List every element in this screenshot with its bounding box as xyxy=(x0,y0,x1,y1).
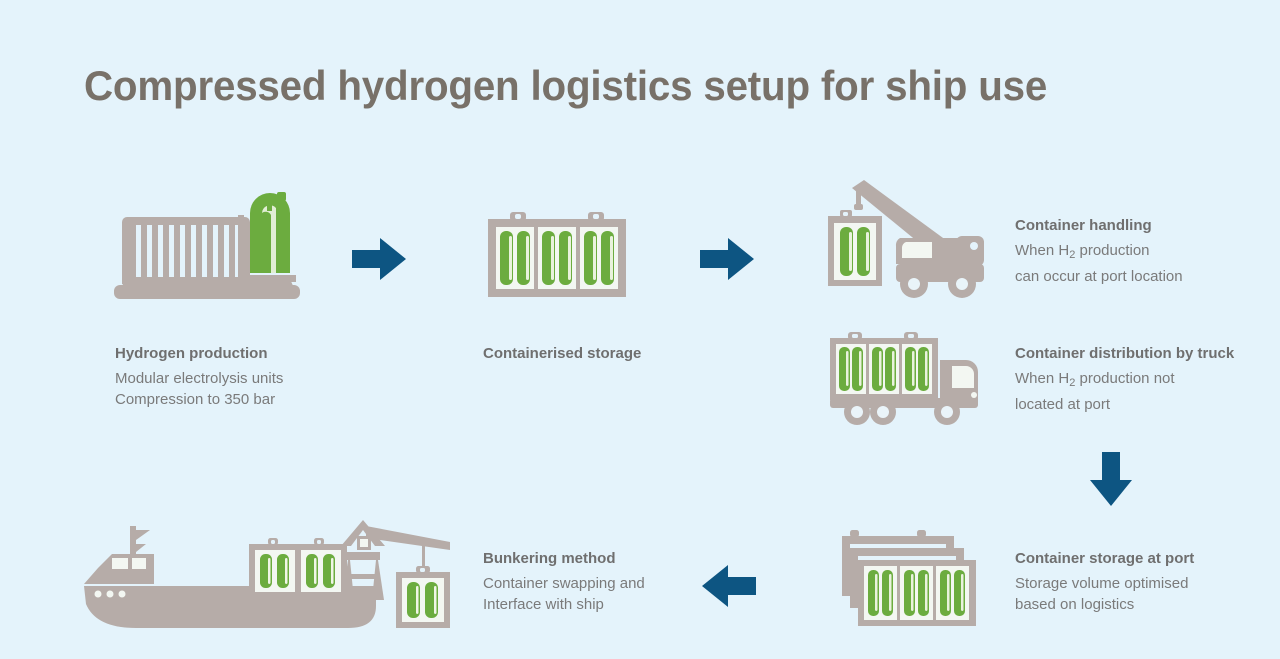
body-container-handling-line2: can occur at port location xyxy=(1015,266,1183,287)
body-hydrogen-production-line2: Compression to 350 bar xyxy=(115,389,283,410)
infographic-canvas: Compressed hydrogen logistics setup for … xyxy=(0,0,1280,659)
heading-container-storage-at-port: Container storage at port xyxy=(1015,549,1194,568)
arrow-storage-to-handling xyxy=(700,236,756,287)
label-hydrogen-production: Hydrogen production Modular electrolysis… xyxy=(115,344,283,410)
crane-truck-icon xyxy=(828,176,988,304)
heading-container-distribution: Container distribution by truck xyxy=(1015,344,1234,363)
arrow-production-to-storage xyxy=(352,236,408,287)
label-bunkering-method: Bunkering method Container swapping and … xyxy=(483,549,645,615)
heading-hydrogen-production: Hydrogen production xyxy=(115,344,283,363)
heading-bunkering-method: Bunkering method xyxy=(483,549,645,568)
label-containerised-storage: Containerised storage xyxy=(483,344,641,368)
body-bunkering-line2: Interface with ship xyxy=(483,594,645,615)
arrow-truck-to-port-storage xyxy=(1088,452,1134,513)
body-container-storage-line1: Storage volume optimised xyxy=(1015,573,1194,594)
page-title: Compressed hydrogen logistics setup for … xyxy=(84,62,1047,110)
stacked-containers-icon xyxy=(828,524,988,634)
text-when-h2-pre: When H xyxy=(1015,370,1069,387)
arrow-port-storage-to-bunkering xyxy=(700,563,756,614)
ship-loading-icon xyxy=(78,512,450,638)
body-container-storage-line2: based on logistics xyxy=(1015,594,1194,615)
heading-container-handling: Container handling xyxy=(1015,216,1183,235)
text-when-h2-pre: When H xyxy=(1015,242,1069,259)
body-container-handling-line1: When H2 production xyxy=(1015,240,1183,266)
label-container-storage-at-port: Container storage at port Storage volume… xyxy=(1015,549,1194,615)
hydrogen-container-icon xyxy=(484,212,630,300)
body-container-distribution-line1: When H2 production not xyxy=(1015,368,1234,394)
container-truck-icon xyxy=(828,332,988,432)
text-when-h2-post: production xyxy=(1075,242,1149,259)
heading-containerised-storage: Containerised storage xyxy=(483,344,641,363)
label-container-distribution: Container distribution by truck When H2 … xyxy=(1015,344,1234,415)
text-when-h2-post: production not xyxy=(1075,370,1174,387)
electrolysis-unit-icon xyxy=(112,185,302,305)
label-container-handling: Container handling When H2 production ca… xyxy=(1015,216,1183,287)
body-container-distribution-line2: located at port xyxy=(1015,394,1234,415)
body-bunkering-line1: Container swapping and xyxy=(483,573,645,594)
body-hydrogen-production-line1: Modular electrolysis units xyxy=(115,368,283,389)
